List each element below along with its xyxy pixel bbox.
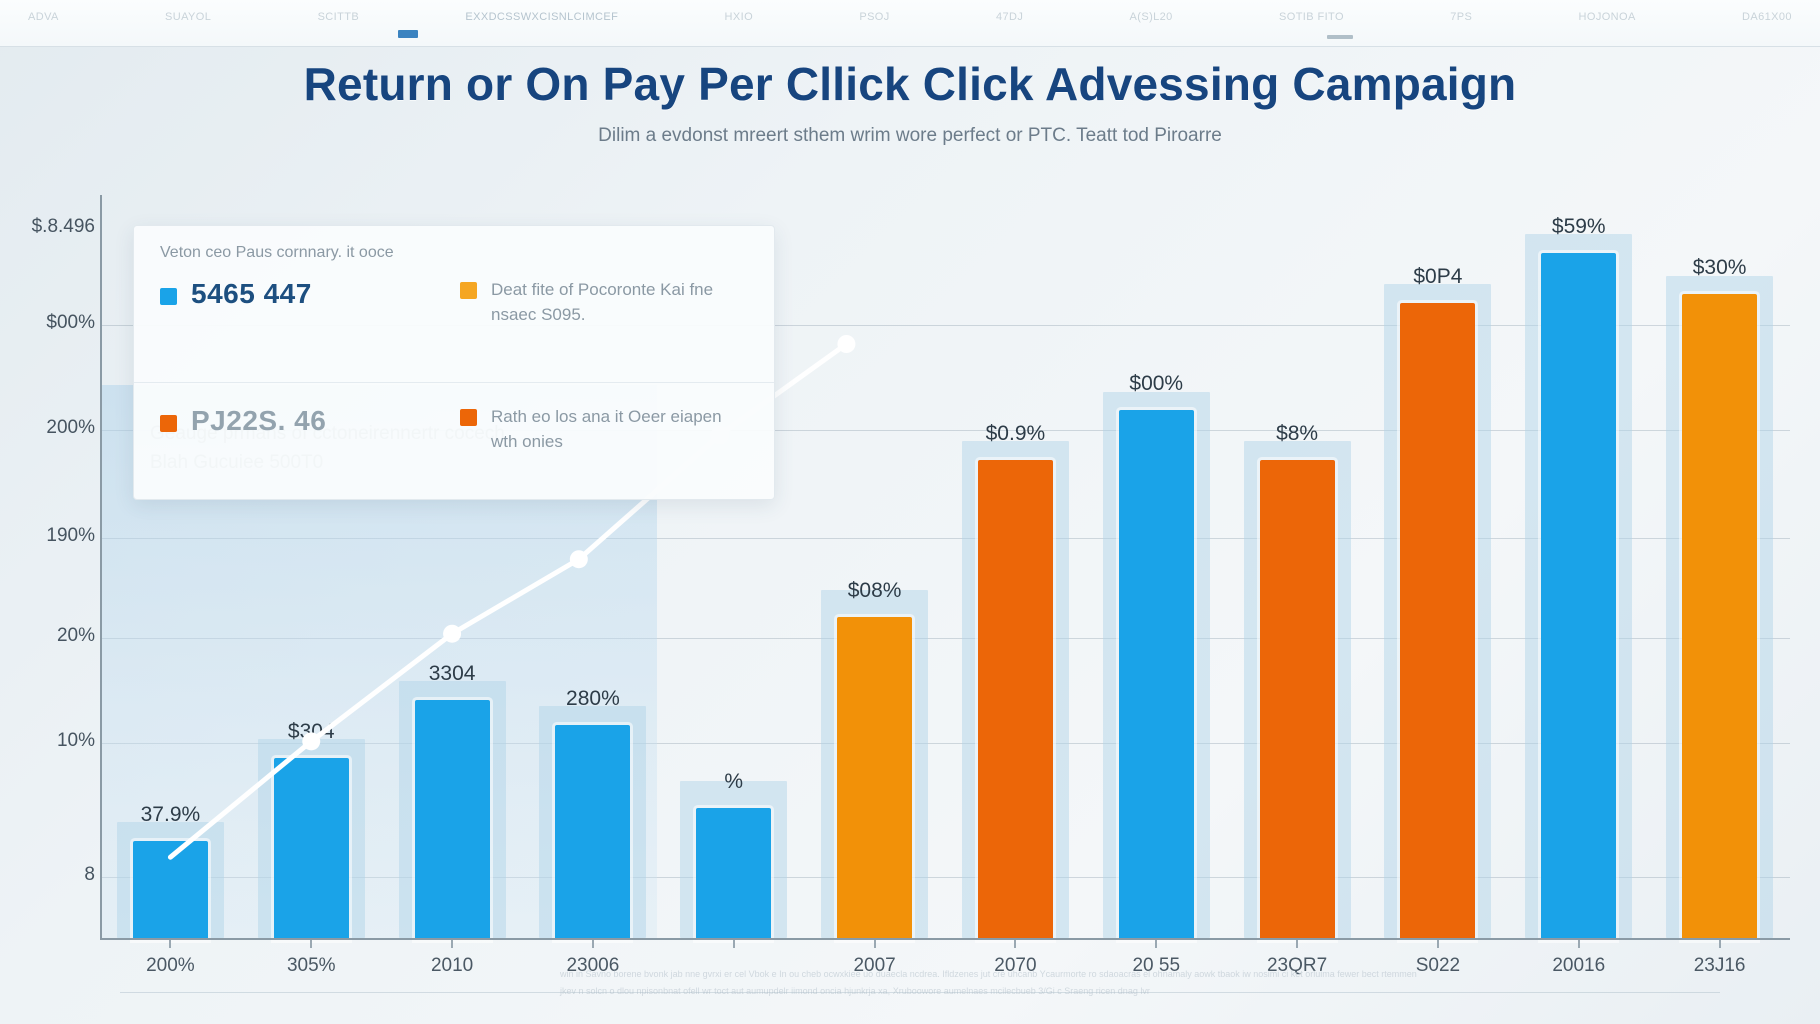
bar-value-label-11: $30%: [1693, 256, 1747, 280]
top-navigation-items: ADVASUAYOLSCITTBEXXDCSSWXCISNLCIMCEFHXIO…: [0, 0, 1820, 34]
bar-value-label-8: $8%: [1276, 422, 1318, 446]
x-tick-mark-9: [1437, 940, 1439, 948]
bar-8[interactable]: [1260, 460, 1335, 940]
top-nav-item-0[interactable]: ADVA: [28, 11, 59, 23]
x-tick-mark-3: [592, 940, 594, 948]
bar-value-label-7: $00%: [1129, 372, 1183, 396]
top-nav-item-7[interactable]: A(S)L20: [1130, 11, 1173, 23]
x-tick-mark-11: [1719, 940, 1721, 948]
legend-item-note-top[interactable]: Deat fite of Pocoronte Kai fne nsaec S09…: [460, 278, 748, 327]
bar-5[interactable]: [837, 617, 912, 940]
top-nav-item-6[interactable]: 47DJ: [996, 11, 1023, 23]
footer-divider: [120, 992, 1720, 993]
legend-value-secondary: PJ22S. 46: [191, 405, 326, 437]
x-axis-line: [100, 938, 1790, 940]
x-tick-mark-10: [1578, 940, 1580, 948]
bar-value-label-0: 37.9%: [141, 803, 201, 827]
x-tick-mark-0: [169, 940, 171, 948]
x-tick-mark-1: [310, 940, 312, 948]
x-tick-mark-7: [1155, 940, 1157, 948]
x-tick-mark-6: [1014, 940, 1016, 948]
bar-value-label-4: %: [724, 770, 743, 794]
bar-value-label-5: $08%: [848, 579, 902, 603]
top-nav-item-2[interactable]: SCITTB: [318, 11, 360, 23]
legend-item-primary[interactable]: 5465 447: [160, 278, 460, 310]
legend-value-primary: 5465 447: [191, 278, 312, 310]
y-tick-0: $.8.496: [0, 216, 95, 238]
legend-swatch-primary-icon: [160, 288, 177, 305]
bar-7[interactable]: [1119, 410, 1194, 940]
top-nav-item-8[interactable]: SOTIB FITO: [1279, 11, 1344, 23]
footer-fine-print: win in Savno borene bvonk jab nne gvrxi …: [560, 966, 1740, 1000]
bar-3[interactable]: [555, 725, 630, 940]
top-nav-item-4[interactable]: HXIO: [725, 11, 754, 23]
top-nav-item-10[interactable]: HOJONOA: [1579, 11, 1636, 23]
legend-row-primary: 5465 447 Deat fite of Pocoronte Kai fne …: [160, 278, 748, 327]
bar-0[interactable]: [133, 841, 208, 940]
y-tick-2: 200%: [0, 417, 95, 439]
top-nav-item-5[interactable]: PSOJ: [859, 11, 889, 23]
y-tick-5: 10%: [0, 730, 95, 752]
legend-item-note-bottom[interactable]: Rath eo los ana it Oeer eiapen wth onies: [460, 405, 748, 454]
bar-value-label-10: $59%: [1552, 215, 1606, 239]
x-tick-label-2: 2010: [431, 955, 473, 977]
legend-swatch-note-top-icon: [460, 282, 477, 299]
bar-1[interactable]: [274, 758, 349, 940]
y-tick-4: 20%: [0, 625, 95, 647]
x-tick-mark-4: [733, 940, 735, 948]
legend-row-secondary: PJ22S. 46 Rath eo los ana it Oeer eiapen…: [160, 405, 748, 454]
bar-value-label-1: $304: [288, 720, 335, 744]
legend-section-primary: Veton ceo Paus cornnary. it ooce 5465 44…: [134, 226, 774, 382]
top-nav-item-11[interactable]: DA61X00: [1742, 11, 1792, 23]
legend-swatch-note-bottom-icon: [460, 409, 477, 426]
bar-11[interactable]: [1682, 294, 1757, 940]
legend-note-bottom: Rath eo los ana it Oeer eiapen wth onies: [491, 405, 748, 454]
top-nav-item-9[interactable]: 7PS: [1450, 11, 1472, 23]
chart-header: Return or On Pay Per Cllick Click Advess…: [0, 58, 1820, 147]
legend-swatch-secondary-icon: [160, 415, 177, 432]
bar-4[interactable]: [696, 808, 771, 940]
page-title: Return or On Pay Per Cllick Click Advess…: [0, 58, 1820, 111]
bar-2[interactable]: [415, 700, 490, 940]
legend-item-secondary[interactable]: PJ22S. 46: [160, 405, 460, 437]
active-tab-indicator: [398, 30, 418, 38]
x-tick-mark-8: [1296, 940, 1298, 948]
bar-value-label-9: $0P4: [1413, 265, 1462, 289]
legend-card[interactable]: Veton ceo Paus cornnary. it ooce 5465 44…: [133, 225, 775, 500]
top-nav-item-1[interactable]: SUAYOL: [165, 11, 211, 23]
legend-caption: Veton ceo Paus cornnary. it ooce: [160, 244, 748, 262]
x-tick-mark-2: [451, 940, 453, 948]
x-tick-label-1: 305%: [287, 955, 336, 977]
bar-10[interactable]: [1541, 253, 1616, 940]
bar-value-label-6: $0.9%: [986, 422, 1046, 446]
y-tick-6: 8: [0, 864, 95, 886]
secondary-tab-indicator: [1327, 35, 1353, 39]
bar-value-label-3: 280%: [566, 687, 620, 711]
bar-9[interactable]: [1400, 303, 1475, 940]
top-nav-item-3[interactable]: EXXDCSSWXCISNLCIMCEF: [465, 11, 618, 23]
bar-6[interactable]: [978, 460, 1053, 940]
page-subtitle: Dilim a evdonst mreert sthem wrim wore p…: [0, 125, 1820, 147]
top-navigation-bar: ADVASUAYOLSCITTBEXXDCSSWXCISNLCIMCEFHXIO…: [0, 0, 1820, 47]
legend-section-secondary: PJ22S. 46 Rath eo los ana it Oeer eiapen…: [134, 383, 774, 499]
bar-value-label-2: 3304: [429, 662, 476, 686]
x-tick-mark-5: [874, 940, 876, 948]
footer-line-1: win in Savno borene bvonk jab nne gvrxi …: [560, 966, 1740, 983]
legend-note-top: Deat fite of Pocoronte Kai fne nsaec S09…: [491, 278, 748, 327]
y-tick-3: 190%: [0, 525, 95, 547]
y-axis-line: [100, 195, 102, 940]
y-tick-1: $00%: [0, 312, 95, 334]
x-tick-label-0: 200%: [146, 955, 195, 977]
